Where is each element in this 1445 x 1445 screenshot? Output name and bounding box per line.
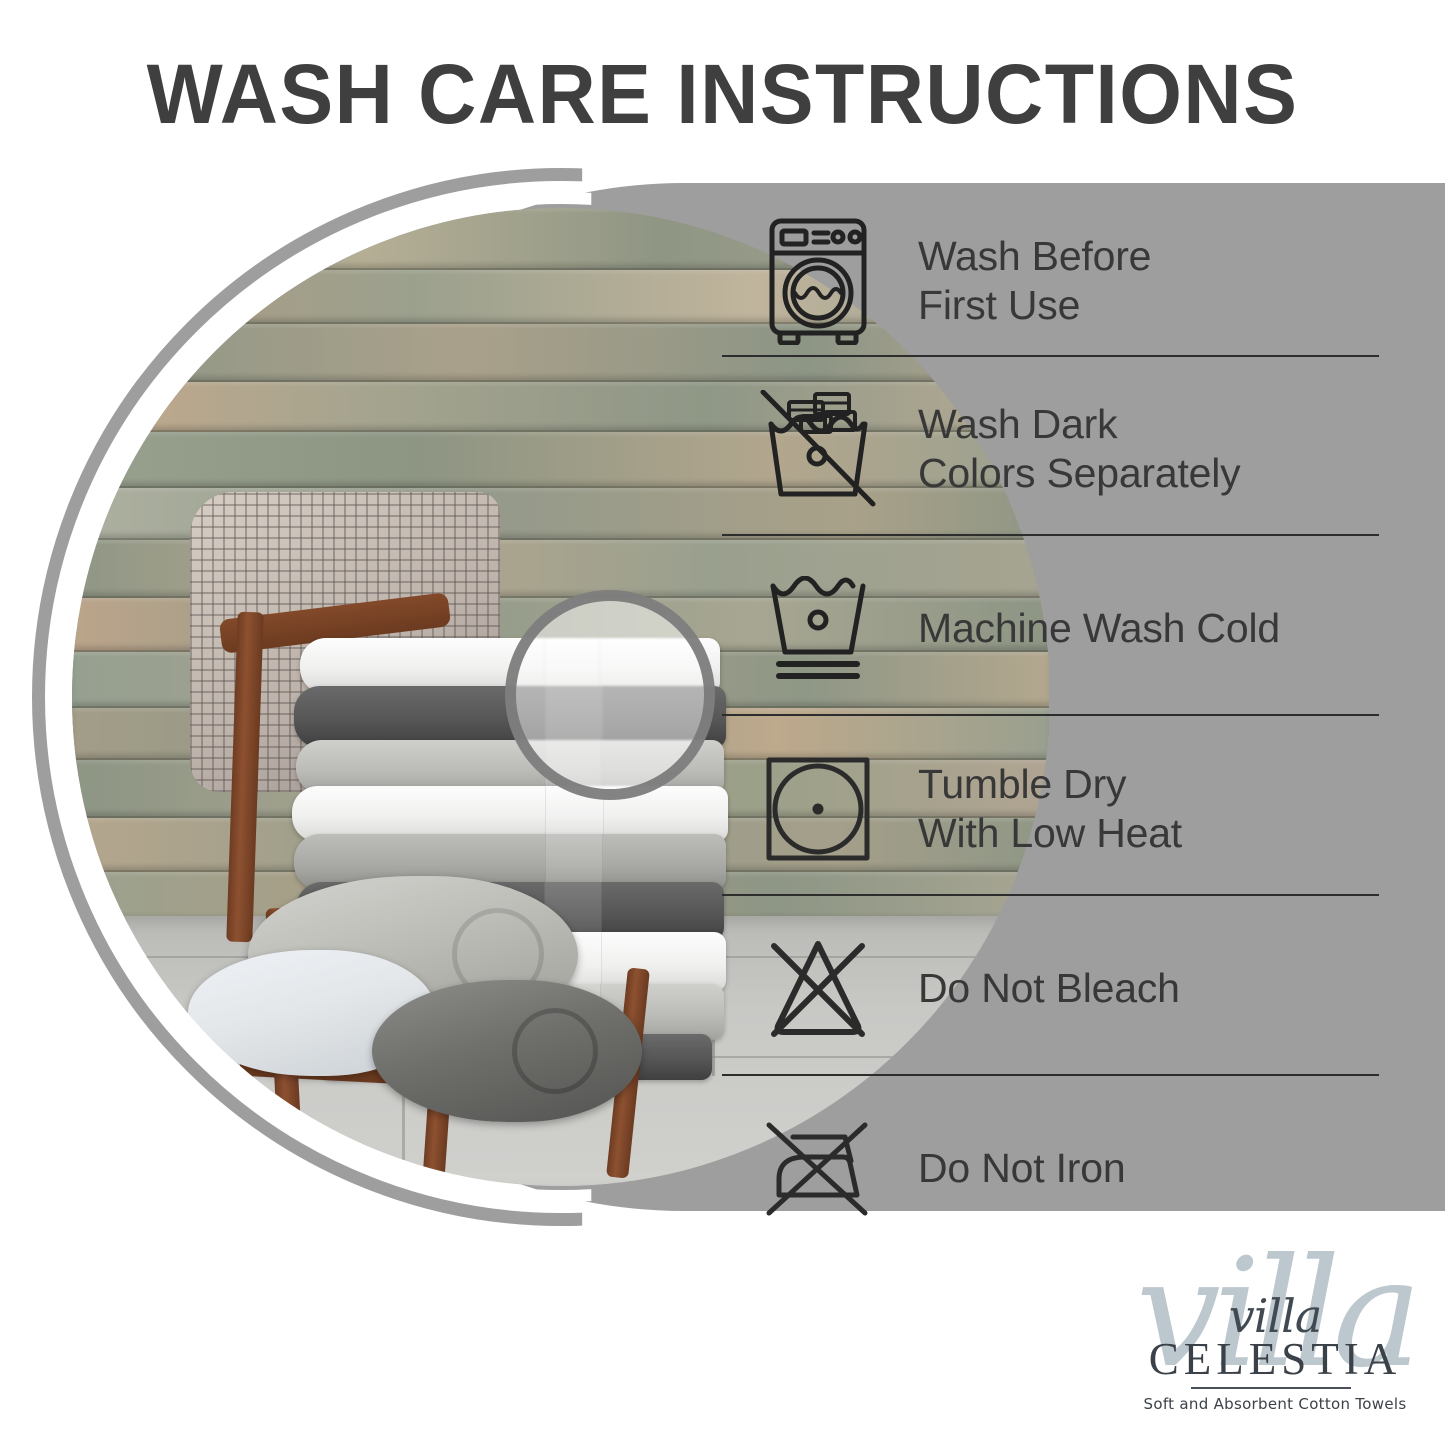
row-divider: [722, 894, 1379, 896]
instruction-row-wash-before-first-use[interactable]: Wash Before First Use: [718, 206, 1380, 356]
instruction-label: Wash Dark Colors Separately: [918, 400, 1240, 498]
washing-machine-icon: [718, 217, 918, 345]
row-divider: [722, 355, 1379, 357]
machine-wash-cold-icon: [718, 576, 918, 682]
tumble-dry-low-heat-icon: [718, 755, 918, 863]
logo-tagline: Soft and Absorbent Cotton Towels: [1125, 1395, 1425, 1413]
page-title: WASH CARE INSTRUCTIONS: [29, 46, 1416, 143]
instruction-label: Wash Before First Use: [918, 232, 1151, 330]
row-divider: [722, 1074, 1379, 1076]
lens-overlay-circle: [505, 590, 715, 800]
logo-underline: [1191, 1387, 1351, 1389]
instruction-row-tumble-dry-low-heat[interactable]: Tumble Dry With Low Heat: [718, 734, 1380, 884]
logo-script-villa: villa: [1125, 1293, 1425, 1339]
instruction-row-do-not-iron[interactable]: Do Not Iron: [718, 1094, 1380, 1244]
no-mixed-colors-basin-icon: [718, 390, 918, 508]
instruction-label: Do Not Bleach: [918, 964, 1180, 1013]
brand-logo: villa villa CELESTIA Soft and Absorbent …: [1125, 1245, 1425, 1435]
wash-care-infographic: WASH CARE INSTRUCTIONS: [0, 0, 1445, 1445]
instruction-label: Tumble Dry With Low Heat: [918, 760, 1182, 858]
row-divider: [722, 534, 1379, 536]
instruction-row-wash-dark-colors-separately[interactable]: Wash Dark Colors Separately: [718, 374, 1380, 524]
rolled-towel-swirl: [512, 1008, 598, 1094]
instruction-label: Do Not Iron: [918, 1144, 1125, 1193]
instruction-label: Machine Wash Cold: [918, 604, 1280, 653]
logo-name-celestia: CELESTIA: [1125, 1337, 1425, 1382]
instruction-row-do-not-bleach[interactable]: Do Not Bleach: [718, 914, 1380, 1064]
do-not-bleach-icon: [718, 934, 918, 1044]
rolled-towel-dark: [372, 980, 642, 1122]
instructions-list: Wash Before First Use Wash Dark: [718, 196, 1380, 1206]
instruction-row-machine-wash-cold[interactable]: Machine Wash Cold: [718, 554, 1380, 704]
row-divider: [722, 714, 1379, 716]
do-not-iron-icon: [718, 1117, 918, 1221]
